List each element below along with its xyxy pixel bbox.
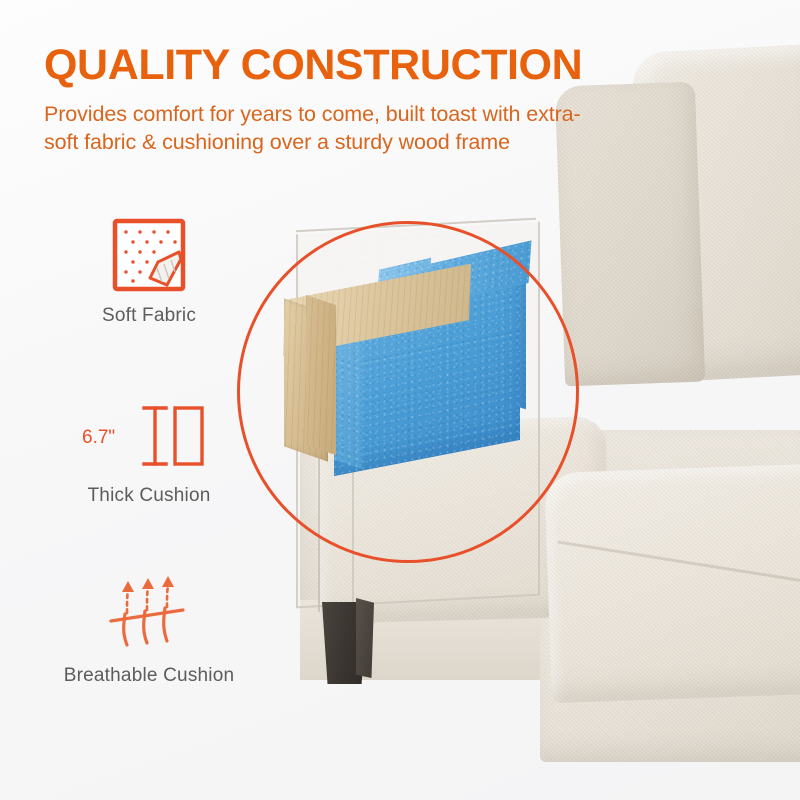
sofa-leg-side [356,598,374,678]
feature-label: Thick Cushion [44,484,254,508]
fabric-weave-texture [544,463,800,703]
measurement-value: 6.7" [82,427,115,448]
fabric-swatch-icon [44,212,254,298]
feature-label: Breathable Cushion [44,664,254,688]
header-block: QUALITY CONSTRUCTION Provides comfort fo… [44,44,624,157]
feature-breathable-cushion: Breathable Cushion [44,572,254,752]
page-subtitle: Provides comfort for years to come, buil… [44,100,604,157]
thickness-measure-icon: 6.7" [44,392,254,478]
sofa-seat-cushion-right [544,463,800,703]
detail-highlight-circle [237,221,579,563]
infographic-canvas: QUALITY CONSTRUCTION Provides comfort fo… [0,0,800,800]
airflow-icon [44,572,254,658]
feature-label: Soft Fabric [44,304,254,328]
page-title: QUALITY CONSTRUCTION [44,44,624,88]
feature-thick-cushion: 6.7" Thick Cushion [44,392,254,572]
feature-list: Soft Fabric 6.7" Thick Cushion [44,212,254,752]
feature-soft-fabric: Soft Fabric [44,212,254,392]
